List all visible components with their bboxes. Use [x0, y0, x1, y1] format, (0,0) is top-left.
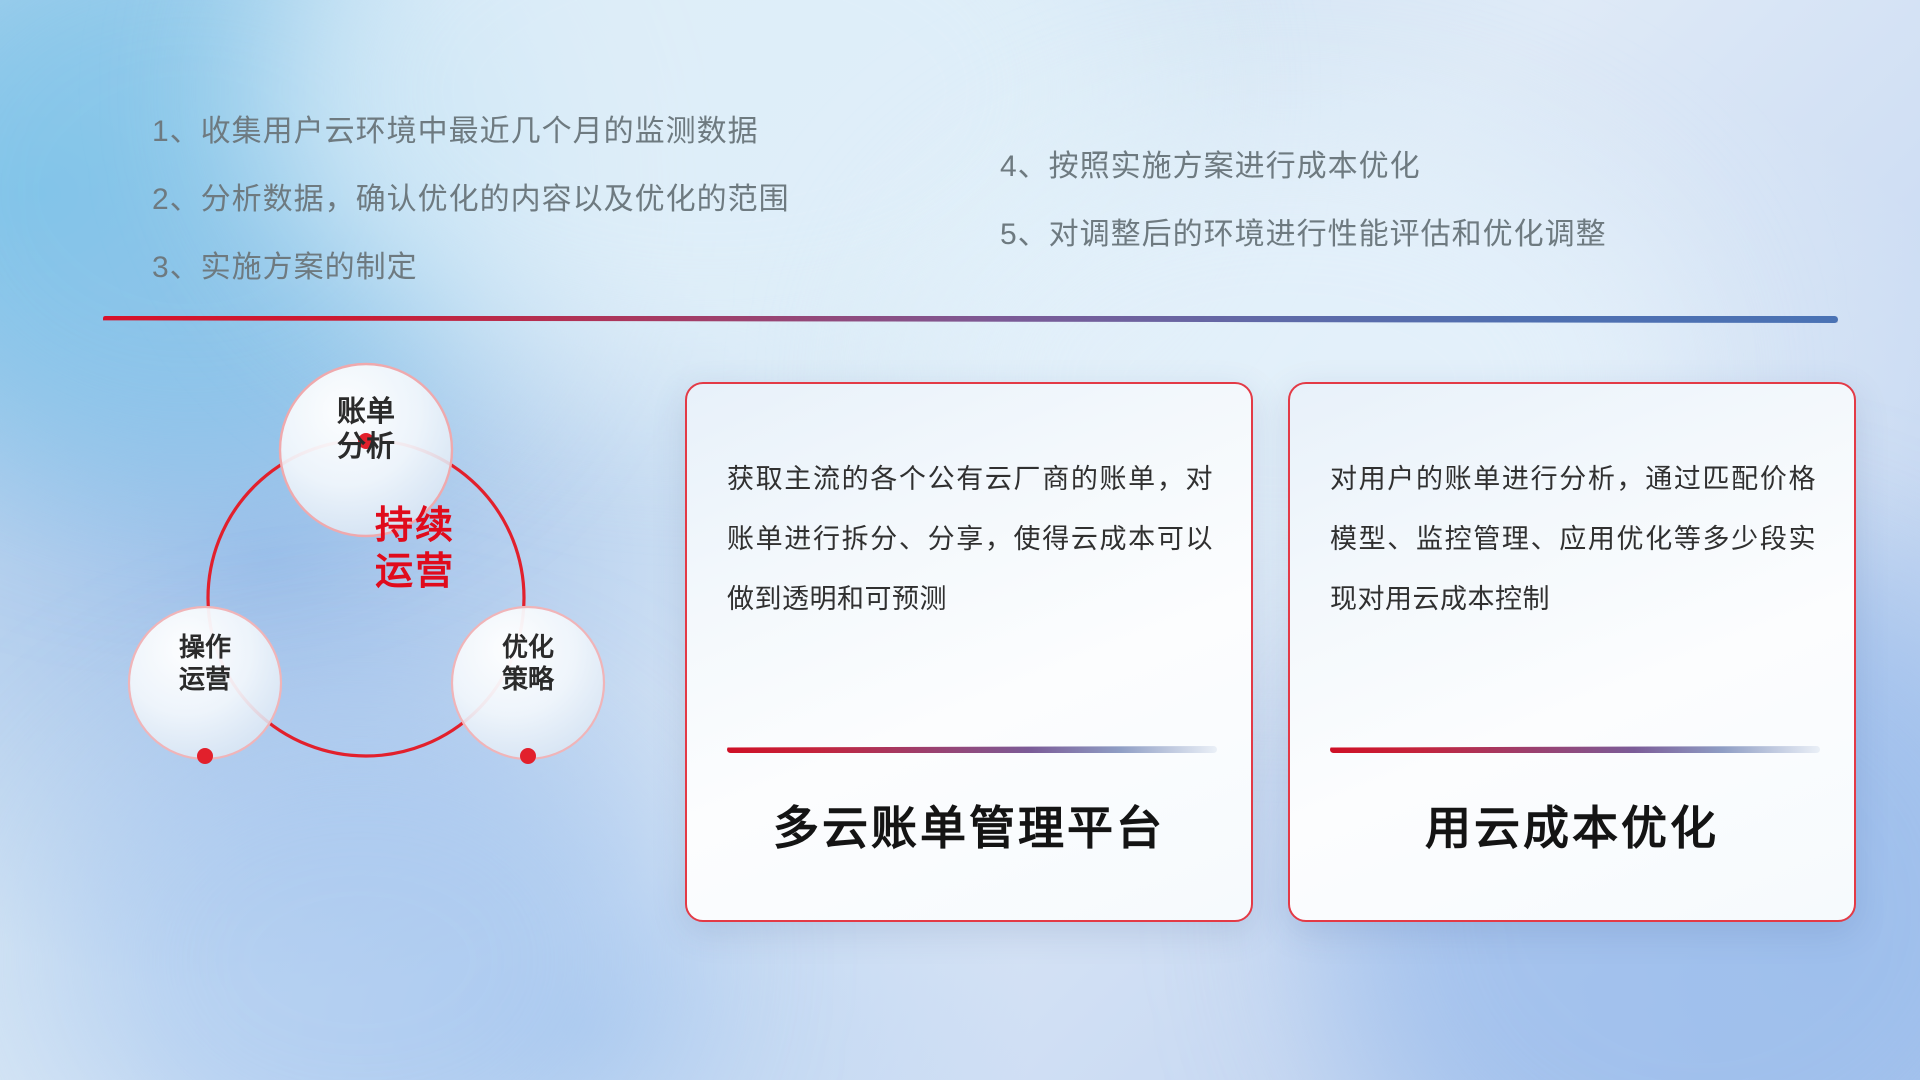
- card-body-text: 对用户的账单进行分析，通过匹配价格模型、监控管理、应用优化等多少段实现对用云成本…: [1330, 450, 1816, 630]
- venn-label-optimization-strategy: 优化 策略: [458, 632, 598, 695]
- venn-label-operations-line2: 运营: [135, 664, 275, 696]
- bullet-item-2: 2、分析数据，确认优化的内容以及优化的范围: [152, 185, 790, 215]
- card-divider: [727, 746, 1217, 753]
- venn-node-dot-left: [197, 748, 213, 764]
- bullet-item-3: 3、实施方案的制定: [152, 253, 790, 283]
- bullet-item-1: 1、收集用户云环境中最近几个月的监测数据: [152, 117, 790, 147]
- venn-node-dot-right: [520, 748, 536, 764]
- bullet-item-5: 5、对调整后的环境进行性能评估和优化调整: [1000, 220, 1607, 250]
- content-card-cloud-cost-optimization[interactable]: 对用户的账单进行分析，通过匹配价格模型、监控管理、应用优化等多少段实现对用云成本…: [1288, 382, 1856, 922]
- card-title: 多云账单管理平台: [687, 792, 1251, 858]
- venn-label-strategy-line1: 优化: [458, 632, 598, 664]
- section-divider-rule: [103, 316, 1838, 323]
- venn-center-label: 持续 运营: [330, 503, 500, 596]
- card-title: 用云成本优化: [1290, 792, 1854, 858]
- venn-center-label-line1: 持续: [330, 503, 500, 549]
- bullet-item-4: 4、按照实施方案进行成本优化: [1000, 152, 1607, 182]
- venn-label-strategy-line2: 策略: [458, 664, 598, 696]
- venn-diagram: 账单 分析 操作 运营 优化 策略 持续 运营: [100, 345, 620, 945]
- venn-label-billing-line2: 分析: [296, 430, 436, 465]
- venn-label-operations-line1: 操作: [135, 632, 275, 664]
- content-card-multi-cloud-billing-platform[interactable]: 获取主流的各个公有云厂商的账单，对账单进行拆分、分享，使得云成本可以做到透明和可…: [685, 382, 1253, 922]
- slide-canvas: 1、收集用户云环境中最近几个月的监测数据 2、分析数据，确认优化的内容以及优化的…: [0, 0, 1920, 1080]
- venn-label-billing-line1: 账单: [296, 395, 436, 430]
- venn-center-label-line2: 运营: [330, 549, 500, 595]
- venn-label-billing-analysis: 账单 分析: [296, 395, 436, 466]
- bullet-list-left: 1、收集用户云环境中最近几个月的监测数据 2、分析数据，确认优化的内容以及优化的…: [152, 117, 790, 283]
- bullet-list-right: 4、按照实施方案进行成本优化 5、对调整后的环境进行性能评估和优化调整: [1000, 152, 1607, 250]
- venn-label-operations: 操作 运营: [135, 632, 275, 695]
- card-body-text: 获取主流的各个公有云厂商的账单，对账单进行拆分、分享，使得云成本可以做到透明和可…: [727, 450, 1213, 630]
- card-divider: [1330, 746, 1820, 753]
